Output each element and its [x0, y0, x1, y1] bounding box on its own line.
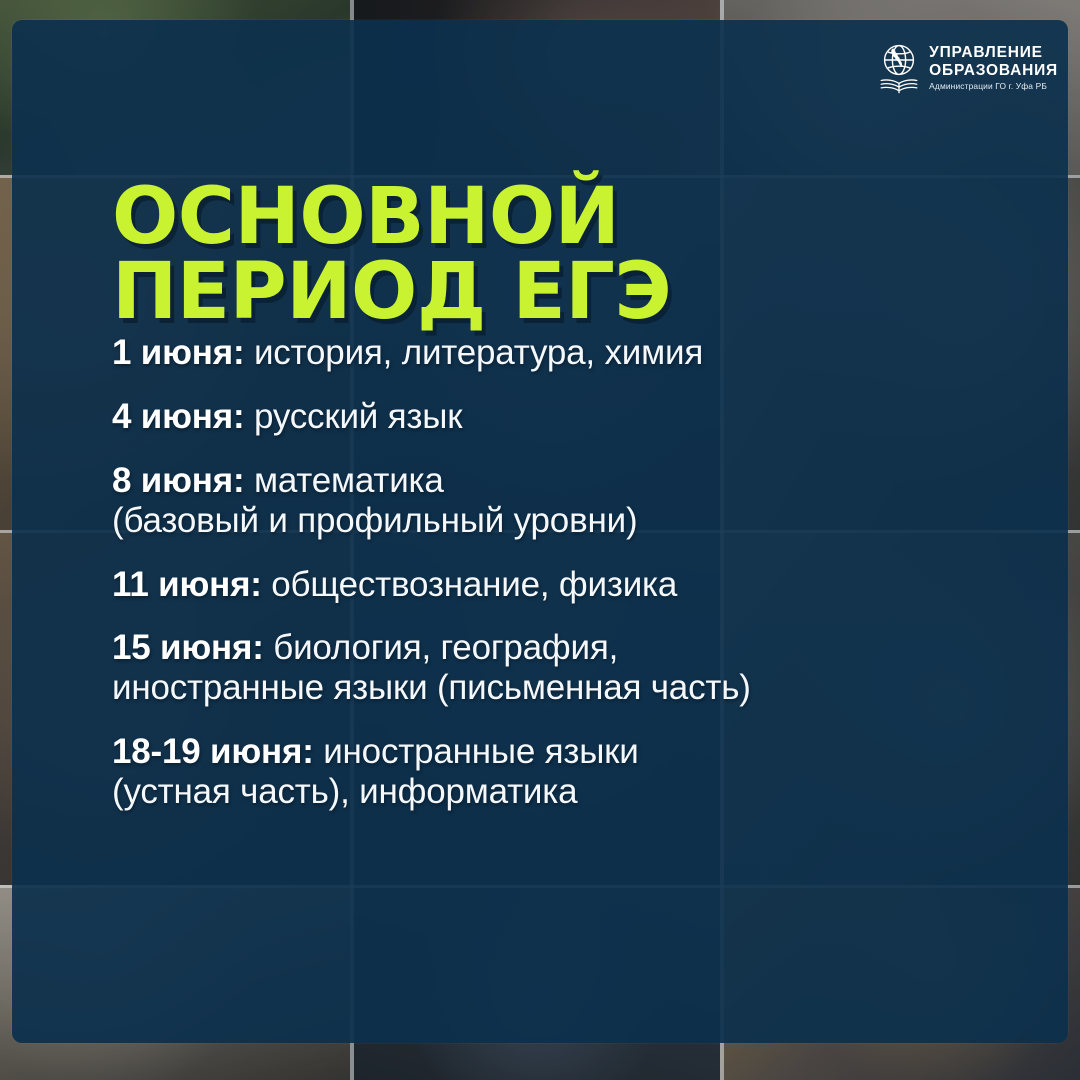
schedule-entry-date: 8 июня: — [112, 461, 244, 500]
page-title-line-1: ОСНОВНОЙ — [112, 180, 671, 255]
schedule-entry-subjects: иностранные языки — [323, 732, 638, 771]
schedule-entry: 15 июня: биология, география, иностранны… — [112, 628, 1040, 708]
schedule-entry-date: 4 июня: — [112, 397, 244, 436]
logo-line-2: ОБРАЗОВАНИЯ — [929, 63, 1058, 79]
page-title: ОСНОВНОЙ ПЕРИОД ЕГЭ — [112, 180, 671, 330]
poster-canvas: УПРАВЛЕНИЕ ОБРАЗОВАНИЯ Администрации ГО … — [0, 0, 1080, 1080]
schedule-entry-subjects: история, литература, химия — [254, 333, 703, 372]
schedule-entry-date: 11 июня: — [112, 565, 262, 604]
schedule-entry: 18-19 июня: иностранные языки (устная ча… — [112, 732, 1040, 812]
organization-logo: УПРАВЛЕНИЕ ОБРАЗОВАНИЯ Администрации ГО … — [878, 40, 1058, 96]
schedule-entry-subjects: математика — [254, 461, 444, 500]
schedule-entry-subjects: биология, география, — [273, 628, 618, 667]
schedule-entry: 4 июня: русский язык — [112, 397, 1040, 437]
schedule-entry-date: 15 июня: — [112, 628, 264, 667]
logo-line-1: УПРАВЛЕНИЕ — [929, 45, 1058, 61]
schedule-entry-continuation: иностранные языки (письменная часть) — [112, 668, 1040, 708]
logo-subtitle: Администрации ГО г. Уфа РБ — [929, 82, 1058, 90]
schedule-entry: 8 июня: математика (базовый и профильный… — [112, 461, 1040, 541]
schedule-entry-subjects: обществознание, физика — [271, 565, 677, 604]
schedule-entry-date: 1 июня: — [112, 333, 244, 372]
logo-wordmark: УПРАВЛЕНИЕ ОБРАЗОВАНИЯ Администрации ГО … — [929, 45, 1058, 90]
schedule-entry: 1 июня: история, литература, химия — [112, 333, 1040, 373]
page-title-line-2: ПЕРИОД ЕГЭ — [112, 255, 671, 330]
schedule-entry-subjects: русский язык — [254, 397, 462, 436]
schedule-entry-date: 18-19 июня: — [112, 732, 314, 771]
globe-book-emblem-icon — [878, 40, 920, 96]
schedule-entry-continuation: (устная часть), информатика — [112, 772, 1040, 812]
schedule-entry-continuation: (базовый и профильный уровни) — [112, 501, 1040, 541]
exam-schedule-list: 1 июня: история, литература, химия 4 июн… — [112, 333, 1040, 812]
schedule-entry: 11 июня: обществознание, физика — [112, 565, 1040, 605]
